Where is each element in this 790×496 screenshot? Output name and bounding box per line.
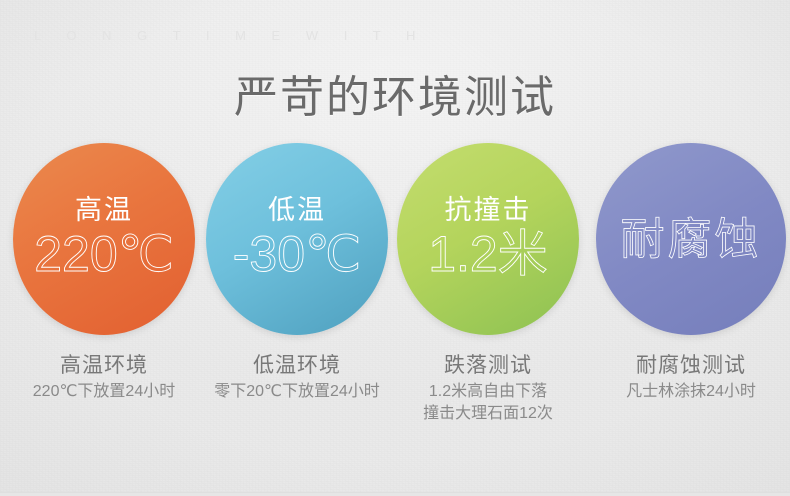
circle-label: 低温 bbox=[268, 195, 326, 225]
caption-line-2: 撞击大理石面12次 bbox=[397, 403, 579, 425]
test-captions-row: 高温环境 220℃下放置24小时 低温环境 零下20℃下放置24小时 跌落测试 … bbox=[0, 352, 790, 462]
test-circle-impact-resistance: 抗撞击 1.2米 bbox=[397, 143, 579, 335]
test-circle-high-temperature: 高温 220℃ bbox=[13, 143, 195, 335]
circle-value: 220℃ bbox=[34, 227, 174, 281]
caption-drop-test: 跌落测试 1.2米高自由下落 撞击大理石面12次 bbox=[397, 352, 579, 425]
caption-line-1: 220℃下放置24小时 bbox=[13, 381, 195, 403]
test-circle-low-temperature: 低温 -30℃ bbox=[206, 143, 388, 335]
promo-banner: L O N G T I M E W I T H 严苛的环境测试 高温 220℃ … bbox=[0, 0, 790, 496]
caption-line-1: 零下20℃下放置24小时 bbox=[206, 381, 388, 403]
caption-line-1: 1.2米高自由下落 bbox=[397, 381, 579, 403]
caption-high-temperature: 高温环境 220℃下放置24小时 bbox=[13, 352, 195, 403]
caption-corrosion-test: 耐腐蚀测试 凡士林涂抹24小时 bbox=[596, 352, 786, 403]
caption-title: 跌落测试 bbox=[397, 352, 579, 379]
circle-label: 耐腐蚀 bbox=[621, 215, 762, 265]
caption-title: 高温环境 bbox=[13, 352, 195, 379]
background-watermark: L O N G T I M E W I T H bbox=[34, 28, 426, 43]
page-title: 严苛的环境测试 bbox=[0, 71, 790, 125]
circle-value: -30℃ bbox=[233, 227, 361, 281]
caption-low-temperature: 低温环境 零下20℃下放置24小时 bbox=[206, 352, 388, 403]
test-circle-corrosion-resistance: 耐腐蚀 bbox=[596, 143, 786, 335]
caption-title: 低温环境 bbox=[206, 352, 388, 379]
caption-line-1: 凡士林涂抹24小时 bbox=[596, 381, 786, 403]
circle-value: 1.2米 bbox=[428, 227, 548, 281]
test-circles-row: 高温 220℃ 低温 -30℃ 抗撞击 1.2米 耐腐蚀 bbox=[0, 143, 790, 335]
bottom-divider bbox=[0, 492, 790, 496]
circle-label: 抗撞击 bbox=[445, 195, 532, 225]
caption-title: 耐腐蚀测试 bbox=[596, 352, 786, 379]
circle-label: 高温 bbox=[75, 195, 133, 225]
